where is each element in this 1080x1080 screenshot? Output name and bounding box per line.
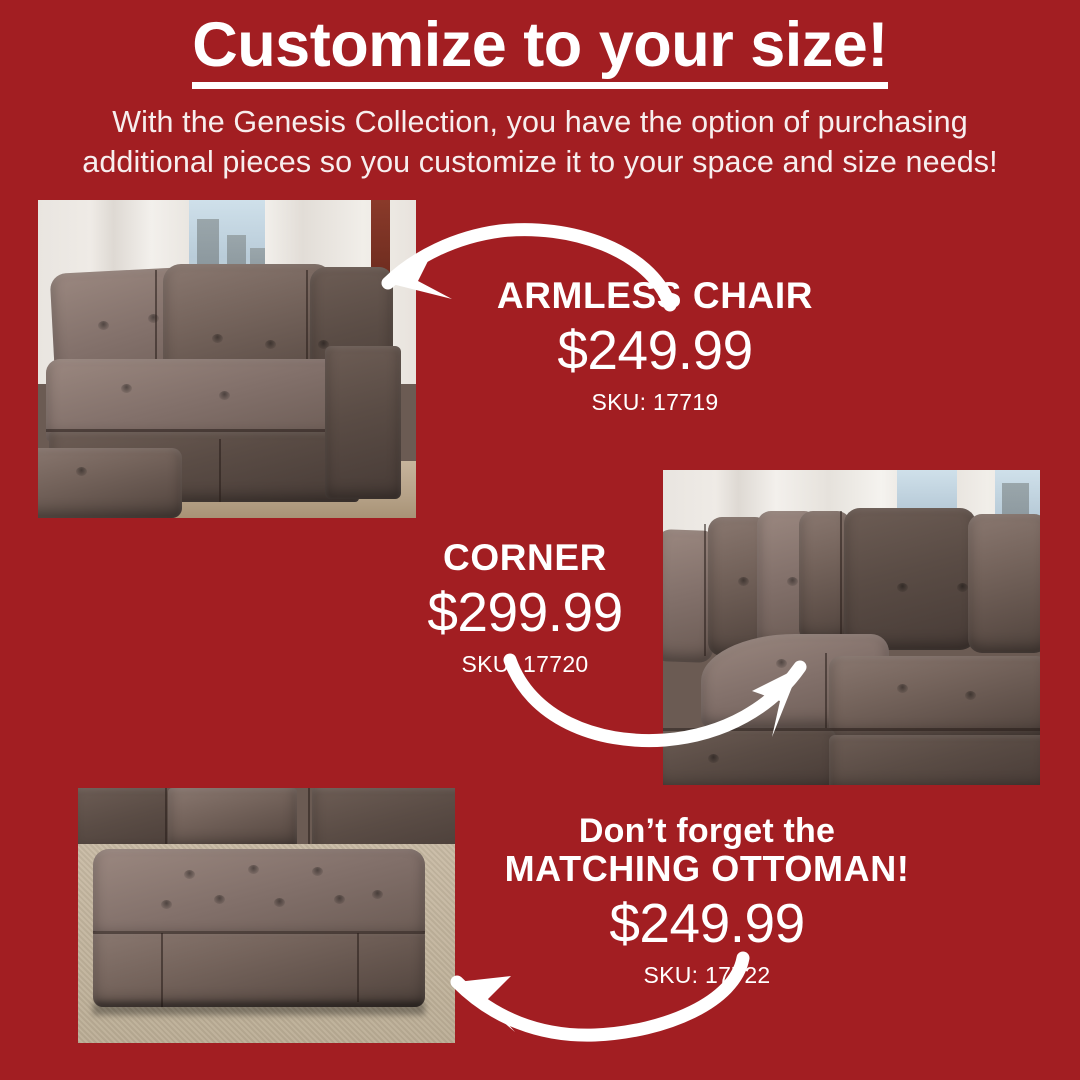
product-name: MATCHING OTTOMAN! (492, 850, 922, 889)
page-title-text: Customize to your size! (192, 12, 888, 89)
product-name: CORNER (370, 538, 680, 578)
subtitle-line-1: With the Genesis Collection, you have th… (0, 102, 1080, 142)
matching-ottoman-photo (78, 788, 455, 1043)
subtitle: With the Genesis Collection, you have th… (0, 102, 1080, 182)
page-title: Customize to your size! (0, 12, 1080, 89)
promo-canvas: Customize to your size! With the Genesis… (0, 0, 1080, 1080)
product-sku: SKU: 17719 (460, 389, 850, 416)
arrow-to-ottoman (435, 940, 755, 1045)
subtitle-line-2: additional pieces so you customize it to… (0, 142, 1080, 182)
product-price: $299.99 (370, 580, 680, 645)
product-block-armless-chair: ARMLESS CHAIR $249.99 SKU: 17719 (460, 276, 850, 416)
armless-chair-photo (38, 200, 416, 518)
arrow-to-corner (500, 645, 820, 750)
product-price: $249.99 (460, 318, 850, 383)
product-prefix: Don’t forget the (492, 812, 922, 850)
product-name: ARMLESS CHAIR (460, 276, 850, 316)
